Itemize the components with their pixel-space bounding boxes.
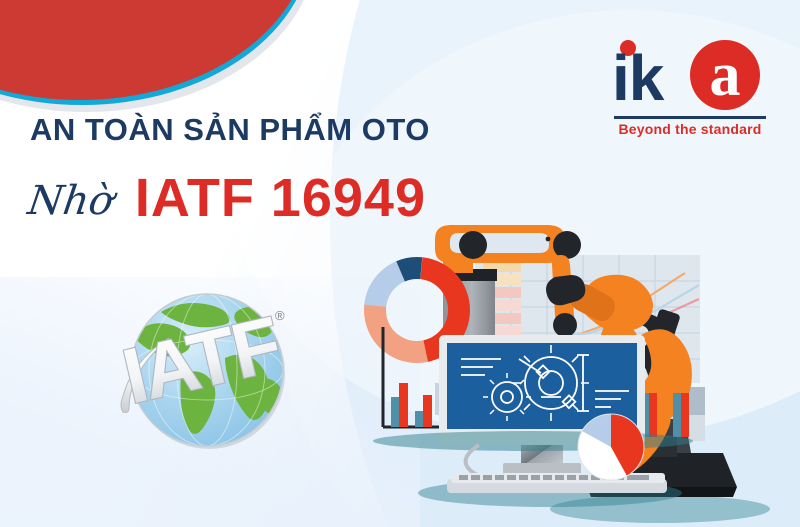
logo-tagline: Beyond the standard [612,121,768,137]
registered-trademark-symbol: ® [275,308,285,323]
iatf-certification-mark: IATF ® [115,278,300,463]
page-title: AN TOÀN SẢN PHẨM OTO [30,112,430,148]
promotional-banner: AN TOÀN SẢN PHẨM OTO Nhờ IATF 16949 ik a… [0,0,800,527]
logo-wordmark-ik: ik [612,46,663,110]
illustration-svg [355,215,800,527]
industry-illustration [355,215,800,527]
subtitle-prefix: Nhờ [25,181,116,225]
iatf-globe-icon: IATF ® [115,278,300,463]
pie-chart [578,414,644,480]
brand-logo[interactable]: ik a Beyond the standard [612,28,772,138]
logo-divider [614,116,766,119]
decorative-red-blob [0,0,310,100]
logo-wordmark-a: a [696,44,754,106]
